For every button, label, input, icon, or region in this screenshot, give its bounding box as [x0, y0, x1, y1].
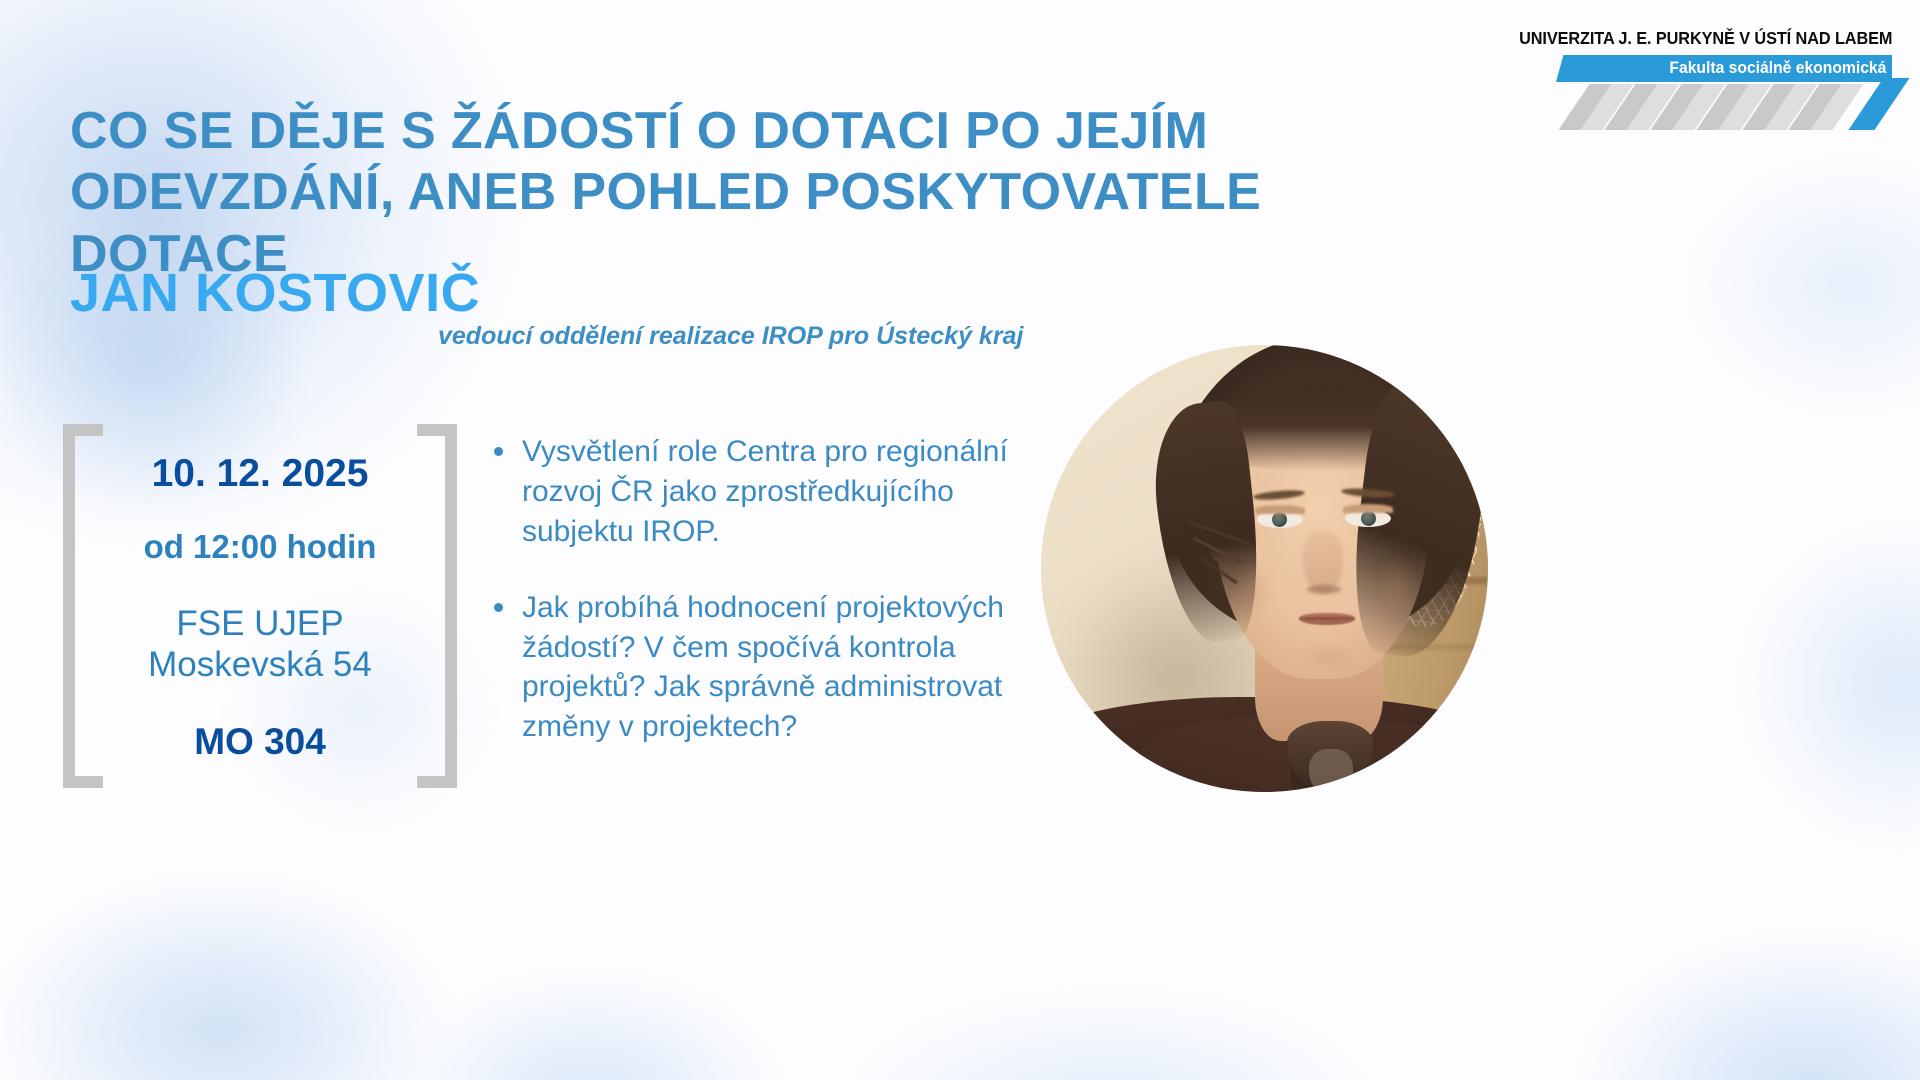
- bracket-right-bottom: [417, 776, 457, 788]
- list-item: Jak probíhá hodnocení projektových žádos…: [522, 588, 1008, 748]
- event-poster: UNIVERZITA J. E. PURKYNĚ V ÚSTÍ NAD LABE…: [0, 0, 1920, 1080]
- event-venue-line-2: Moskevská 54: [63, 645, 457, 686]
- photo-collar-inner: [1309, 749, 1353, 792]
- background-cloud-bottom-right: [1500, 880, 1920, 1080]
- event-date: 10. 12. 2025: [63, 452, 457, 496]
- photo-lip-line: [1299, 617, 1355, 620]
- bracket-right-top: [417, 424, 457, 436]
- event-venue-line-1: FSE UJEP: [63, 604, 457, 645]
- speaker-photo: [1041, 345, 1488, 792]
- ujep-logo: UNIVERZITA J. E. PURKYNĚ V ÚSTÍ NAD LABE…: [1534, 28, 1892, 140]
- bullet-dot-icon: [494, 603, 503, 612]
- photo-iris-right: [1361, 511, 1376, 526]
- photo-cheek-right: [1371, 547, 1423, 627]
- event-venue: FSE UJEP Moskevská 54: [63, 604, 457, 685]
- topic-text: Jak probíhá hodnocení projektových žádos…: [522, 591, 1004, 744]
- event-details: 10. 12. 2025 od 12:00 hodin FSE UJEP Mos…: [63, 452, 457, 763]
- background-cloud-bottom-left-2: [330, 930, 850, 1080]
- speaker-role: vedoucí oddělení realizace IROP pro Úste…: [438, 322, 1023, 351]
- bracket-left-bottom: [63, 776, 103, 788]
- background-cloud-top-right: [1640, 120, 1920, 450]
- bullet-dot-icon: [494, 447, 503, 456]
- photo-chin: [1289, 641, 1369, 671]
- topics-ul: Vysvětlení role Centra pro regionální ro…: [488, 432, 1008, 747]
- topics-list: Vysvětlení role Centra pro regionální ro…: [488, 432, 1008, 747]
- photo-nostrils: [1307, 585, 1341, 594]
- photo-cheek-left: [1229, 551, 1279, 627]
- logo-faculty-name: Fakulta sociálně ekonomická: [1669, 59, 1886, 78]
- logo-university-name: UNIVERZITA J. E. PURKYNĚ V ÚSTÍ NAD LABE…: [1519, 28, 1892, 49]
- event-room: MO 304: [63, 721, 457, 763]
- speaker-name: JAN KOSTOVIČ: [70, 262, 480, 324]
- event-time: od 12:00 hodin: [63, 528, 457, 566]
- topic-text: Vysvětlení role Centra pro regionální ro…: [522, 435, 1008, 548]
- page-title: Co se děje s žádostí o dotaci po jejím o…: [70, 101, 1270, 285]
- logo-diagonal-stripes: [1556, 84, 1892, 130]
- background-cloud-right: [1690, 470, 1920, 900]
- photo-iris-left: [1272, 512, 1287, 527]
- photo-eyelid-left: [1255, 505, 1305, 514]
- background-cloud-bottom-left: [0, 820, 530, 1080]
- bracket-left-top: [63, 424, 103, 436]
- list-item: Vysvětlení role Centra pro regionální ro…: [522, 432, 1008, 552]
- photo-eyelid-right: [1343, 504, 1393, 513]
- photo-nose: [1303, 531, 1343, 593]
- background-cloud-bottom-middle: [760, 960, 1460, 1080]
- logo-blue-band: Fakulta sociálně ekonomická: [1556, 55, 1892, 82]
